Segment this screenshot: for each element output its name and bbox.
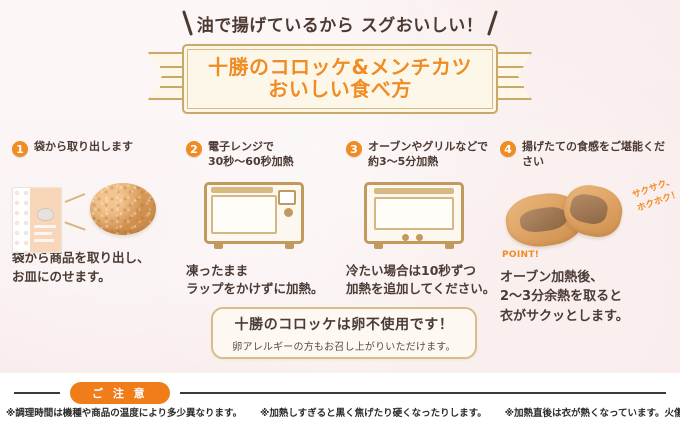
step-2-number: 2 <box>186 141 202 157</box>
step-3: 3 オーブンやグリルなどで 約3～5分加熱 冷たい場合は10秒ずつ 加熱を追加し… <box>346 140 506 299</box>
caution-badge: ご 注 意 <box>70 382 170 404</box>
footer-note-1: ※調理時間は機種や商品の温度により多少異なります。 <box>6 405 242 419</box>
step-3-number: 3 <box>346 141 362 157</box>
slash-left-icon <box>182 10 193 36</box>
tagline: 油で揚げているから スグおいしい！ <box>0 8 680 38</box>
footer-notes: ※調理時間は機種や商品の温度により多少異なります。 ※加熱しすぎると黒く焦げたり… <box>6 405 674 419</box>
tagline-text: 油で揚げているから スグおいしい！ <box>197 11 483 36</box>
step-4-body: オーブン加熱後、 2～3分余熱を取ると 衣がサクッとします。 <box>500 268 675 327</box>
toaster-oven-icon <box>364 182 464 244</box>
footer-note-3: ※加熱直後は衣が熱くなっています。火傷にご注意ください。 <box>505 405 680 419</box>
footer-rule-right <box>180 392 666 394</box>
step-1-illustration <box>12 163 177 241</box>
step-3-illustration <box>346 176 506 254</box>
ribbon-title-line2: おいしい食べ方 <box>268 78 412 101</box>
step-4-body-line1: オーブン加熱後、 <box>500 268 675 288</box>
step-2-body-line1: 凍ったまま <box>186 262 336 281</box>
egg-free-headline: 十勝のコロッケは卵不使用です！ <box>235 314 454 334</box>
footer: ご 注 意 ※調理時間は機種や商品の温度により多少異なります。 ※加熱しすぎると… <box>0 373 680 421</box>
step-2-heading-line1: 電子レンジで <box>208 140 294 155</box>
step-4-body-line2: 2～3分余熱を取ると <box>500 287 675 307</box>
step-2-illustration <box>186 176 336 254</box>
egg-free-subline: 卵アレルギーの方もお召し上がりいただけます。 <box>232 338 455 353</box>
step-1: 1 袋から取り出します 袋から商品を取り出し、 お皿にのせます。 <box>12 140 177 287</box>
arrow-line-lower-icon <box>64 221 85 230</box>
footer-note-2: ※加熱しすぎると黒く焦げたり硬くなったりします。 <box>260 405 487 419</box>
step-3-heading-line1: オーブンやグリルなどで <box>368 140 488 155</box>
step-3-body-line2: 加熱を追加してください。 <box>346 280 506 299</box>
step-1-number: 1 <box>12 141 28 157</box>
step-1-head: 1 袋から取り出します <box>12 140 177 157</box>
step-3-heading: オーブンやグリルなどで 約3～5分加熱 <box>368 140 488 170</box>
step-4-illustration: サクサク、 ホクホク！ POINT! <box>500 176 675 254</box>
steps-row: 1 袋から取り出します 袋から商品を取り出し、 お皿にのせます。 <box>0 140 680 300</box>
slash-right-icon <box>487 10 498 36</box>
step-2-body: 凍ったまま ラップをかけずに加熱。 <box>186 262 336 300</box>
step-4-heading: 揚げたての食感をご堪能ください <box>522 140 675 170</box>
point-label: POINT! <box>502 250 539 260</box>
step-3-heading-line2: 約3～5分加熱 <box>368 155 488 170</box>
croquette-icon <box>90 183 156 235</box>
step-4: 4 揚げたての食感をご堪能ください サクサク、 ホクホク！ POINT! オーブ… <box>500 140 675 326</box>
step-1-body: 袋から商品を取り出し、 お皿にのせます。 <box>12 249 177 287</box>
title-ribbon: 十勝のコロッケ&メンチカツ おいしい食べ方 <box>148 44 532 110</box>
step-4-head: 4 揚げたての食感をご堪能ください <box>500 140 675 170</box>
step-2-head: 2 電子レンジで 30秒～60秒加熱 <box>186 140 336 170</box>
step-4-body-line3: 衣がサクッとします。 <box>500 307 675 327</box>
step-3-head: 3 オーブンやグリルなどで 約3～5分加熱 <box>346 140 506 170</box>
ribbon-title-line1: 十勝のコロッケ&メンチカツ <box>208 57 472 78</box>
footer-heading-row: ご 注 意 <box>0 383 680 403</box>
step-2-body-line2: ラップをかけずに加熱。 <box>186 280 336 299</box>
footer-rule-left <box>14 392 60 394</box>
microwave-icon <box>204 182 304 244</box>
egg-free-notice: 十勝のコロッケは卵不使用です！ 卵アレルギーの方もお召し上がりいただけます。 <box>211 307 477 359</box>
arrow-line-upper-icon <box>64 193 85 203</box>
ribbon-plate: 十勝のコロッケ&メンチカツ おいしい食べ方 <box>182 44 498 114</box>
package-icon <box>12 187 62 253</box>
step-3-body: 冷たい場合は10秒ずつ 加熱を追加してください。 <box>346 262 506 300</box>
step-2-heading: 電子レンジで 30秒～60秒加熱 <box>208 140 294 170</box>
poster-root: 油で揚げているから スグおいしい！ 十勝のコロッケ&メンチカツ おいしい食べ方 … <box>0 0 680 421</box>
step-4-number: 4 <box>500 141 516 157</box>
step-2-heading-line2: 30秒～60秒加熱 <box>208 155 294 170</box>
step-1-body-line2: お皿にのせます。 <box>12 268 177 287</box>
step-3-body-line1: 冷たい場合は10秒ずつ <box>346 262 506 281</box>
step-2: 2 電子レンジで 30秒～60秒加熱 凍ったまま ラップをかけずに加 <box>186 140 336 299</box>
step-1-heading: 袋から取り出します <box>34 140 133 155</box>
texture-annotation: サクサク、 ホクホク！ <box>631 175 680 216</box>
